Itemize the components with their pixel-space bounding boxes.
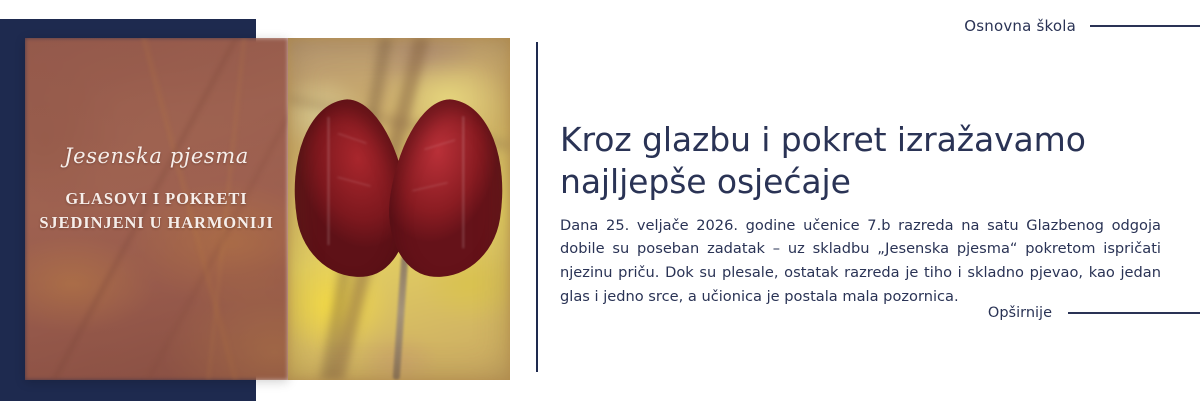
section-divider [536, 42, 538, 372]
eyebrow-label: Osnovna škola [964, 17, 1076, 35]
page-title: Kroz glazbu i pokret izražavamo najljepš… [560, 119, 1160, 203]
photo-vignette [288, 38, 510, 380]
article-content: Osnovna škola Kroz glazbu i pokret izraž… [560, 0, 1200, 420]
read-more-rule [1068, 312, 1200, 313]
left-visual-composition: Jesenska pjesma GLASOVI I POKRETI SJEDIN… [0, 0, 540, 420]
poster-card: Jesenska pjesma GLASOVI I POKRETI SJEDIN… [25, 38, 288, 380]
read-more-link[interactable]: Opširnije [988, 305, 1200, 321]
poster-headline: GLASOVI I POKRETI SJEDINJENI U HARMONIJI [25, 187, 288, 235]
eyebrow-row: Osnovna škola [964, 17, 1200, 35]
poster-headline-line-1: GLASOVI I POKRETI [25, 187, 288, 211]
heart-leaves-photo [288, 38, 510, 380]
poster-text-block: Jesenska pjesma GLASOVI I POKRETI SJEDIN… [25, 146, 288, 235]
read-more-label[interactable]: Opširnije [988, 305, 1052, 321]
poster-headline-line-2: SJEDINJENI U HARMONIJI [25, 211, 288, 235]
poster-script-title: Jesenska pjesma [25, 146, 288, 167]
article-body-text: Dana 25. veljače 2026. godine učenice 7.… [560, 214, 1161, 309]
eyebrow-rule [1090, 25, 1200, 26]
